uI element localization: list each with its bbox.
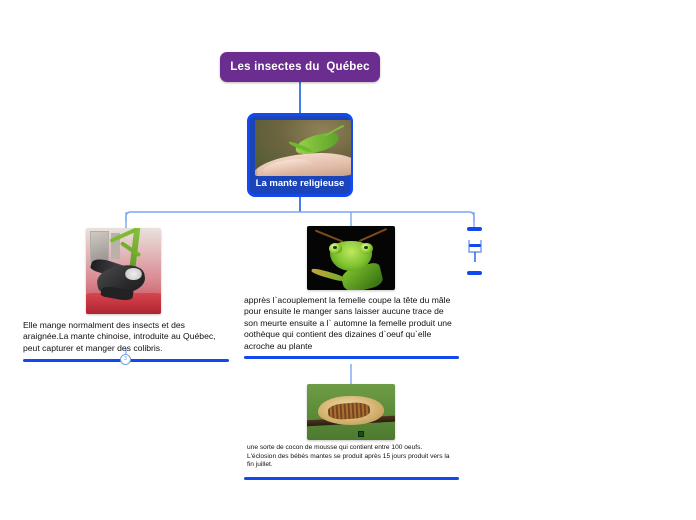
branch-ootheque[interactable]: une sorte de cocon de mousse qui contien… (244, 384, 459, 480)
root-node[interactable]: Les insectes du Québec (220, 52, 380, 82)
branch-reproduction[interactable]: apprès l`acouplement la femelle coupe la… (244, 226, 459, 359)
root-node-label: Les insectes du Québec (230, 61, 369, 73)
branch-ootheque-text: une sorte de cocon de mousse qui contien… (247, 444, 452, 470)
branch-reproduction-underline (244, 356, 459, 359)
ootheca-egg-case-photo (307, 384, 395, 440)
branch-diet-text: Elle mange normalment des insects et des… (23, 320, 229, 354)
collapsed-branch-stub-3[interactable] (467, 271, 482, 275)
mind-map-canvas: Les insectes du Québec La mante religieu… (0, 0, 696, 520)
collapsed-branch-stub-1[interactable] (467, 227, 482, 231)
collapsed-branch-stub-2[interactable] (469, 244, 481, 247)
mantis-head-closeup-photo (307, 226, 395, 290)
branch-ootheque-underline (244, 477, 459, 480)
branch-reproduction-text: apprès l`acouplement la femelle coupe la… (244, 295, 456, 352)
main-node-caption: La mante religieuse (255, 176, 345, 191)
branch-diet-collapse-badge[interactable]: 3 (120, 354, 131, 365)
main-node-la-mante-religieuse[interactable]: La mante religieuse (247, 113, 353, 197)
branch-diet[interactable]: Elle mange normalment des insects et des… (23, 228, 229, 362)
praying-mantis-on-hand-photo (255, 120, 351, 176)
mantis-eating-hummingbird-photo (86, 228, 161, 314)
